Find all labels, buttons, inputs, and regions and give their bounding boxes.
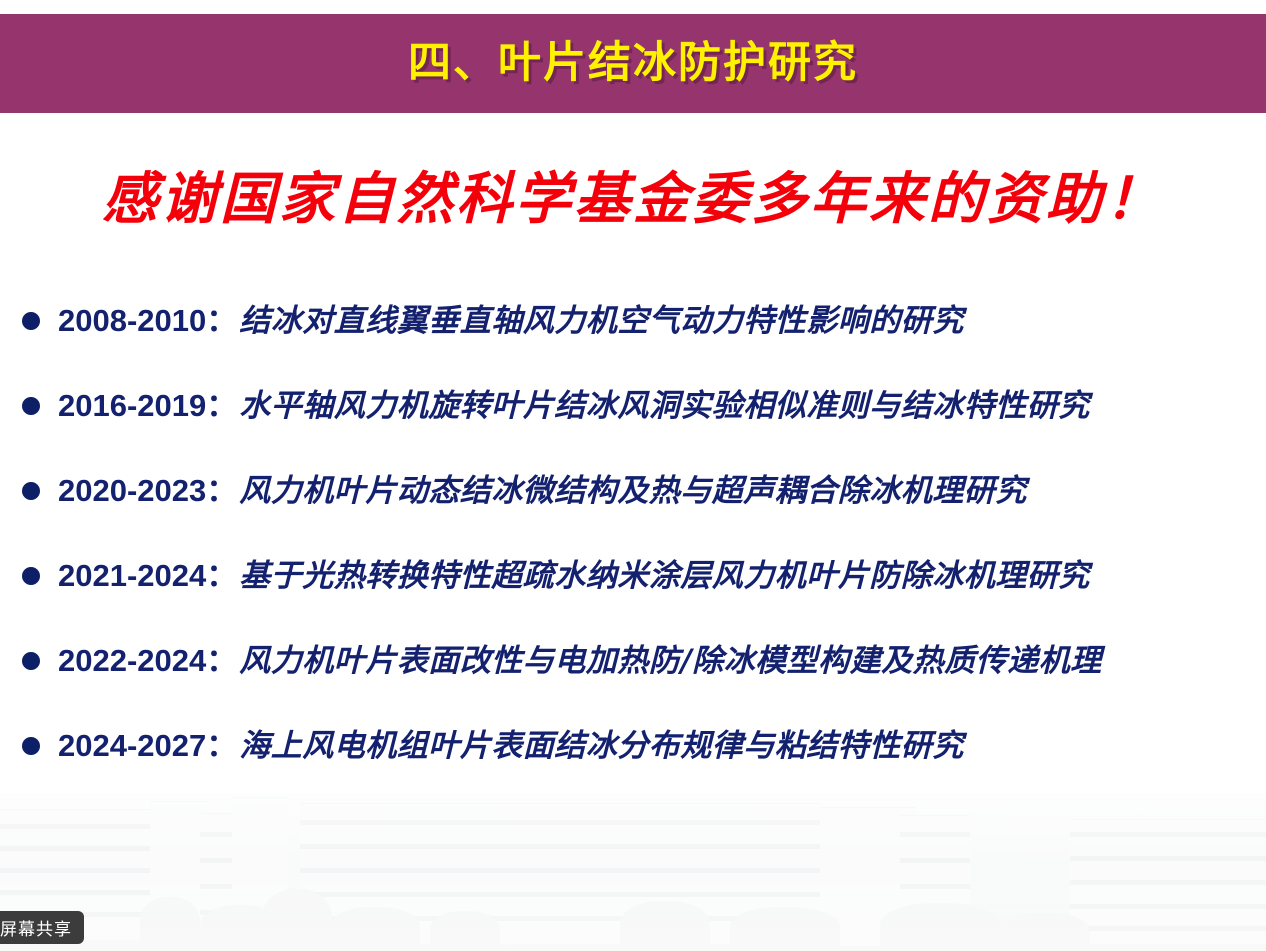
screen-share-indicator[interactable]: 电的屏幕共享 (0, 911, 84, 944)
bullet-circle-icon (22, 652, 40, 670)
campus-photo (0, 793, 1266, 951)
list-item: 2022-2024 ： 风力机叶片表面改性与电加热防/除冰模型构建及热质传递机理 (22, 641, 1266, 726)
list-item-separator: ： (206, 641, 239, 681)
photo-tree (330, 907, 420, 951)
list-item-body: 2016-2019 ： 水平轴风力机旋转叶片结冰风洞实验相似准则与结冰特性研究 (58, 386, 1090, 426)
list-item-year: 2021-2024 (58, 556, 206, 596)
list-item-separator: ： (206, 556, 239, 596)
list-item: 2008-2010 ： 结冰对直线翼垂直轴风力机空气动力特性影响的研究 (22, 301, 1266, 386)
list-item-separator: ： (206, 471, 239, 511)
list-item-text: 风力机叶片表面改性与电加热防/除冰模型构建及热质传递机理 (239, 641, 1101, 681)
photo-tree (430, 911, 500, 951)
bullet-circle-icon (22, 482, 40, 500)
list-item-body: 2022-2024 ： 风力机叶片表面改性与电加热防/除冰模型构建及热质传递机理 (58, 641, 1102, 681)
presentation-slide: 四、叶片结冰防护研究 感谢国家自然科学基金委多年来的资助！ 2008-2010 … (0, 0, 1266, 951)
bullet-circle-icon (22, 737, 40, 755)
list-item: 2021-2024 ： 基于光热转换特性超疏水纳米涂层风力机叶片防除冰机理研究 (22, 556, 1266, 641)
list-item-text: 风力机叶片动态结冰微结构及热与超声耦合除冰机理研究 (239, 471, 1027, 511)
list-item-year: 2016-2019 (58, 386, 206, 426)
bullet-circle-icon (22, 312, 40, 330)
list-item-body: 2008-2010 ： 结冰对直线翼垂直轴风力机空气动力特性影响的研究 (58, 301, 964, 341)
bullet-circle-icon (22, 397, 40, 415)
list-item-body: 2021-2024 ： 基于光热转换特性超疏水纳米涂层风力机叶片防除冰机理研究 (58, 556, 1090, 596)
list-item-text: 海上风电机组叶片表面结冰分布规律与粘结特性研究 (239, 726, 964, 766)
list-item-separator: ： (206, 726, 239, 766)
screen-share-label: 电的屏幕共享 (0, 915, 72, 940)
list-item-body: 2024-2027 ： 海上风电机组叶片表面结冰分布规律与粘结特性研究 (58, 726, 964, 766)
list-item-separator: ： (206, 301, 239, 341)
list-item-body: 2020-2023 ： 风力机叶片动态结冰微结构及热与超声耦合除冰机理研究 (58, 471, 1027, 511)
photo-tree (880, 903, 1000, 951)
list-item-text: 结冰对直线翼垂直轴风力机空气动力特性影响的研究 (239, 301, 964, 341)
photo-tree (262, 889, 332, 951)
photo-tree (730, 907, 840, 951)
list-item-year: 2020-2023 (58, 471, 206, 511)
list-item-year: 2022-2024 (58, 641, 206, 681)
photo-tree (620, 901, 710, 951)
slide-header-banner: 四、叶片结冰防护研究 (0, 14, 1266, 113)
photo-building (1070, 819, 1266, 944)
list-item-year: 2008-2010 (58, 301, 206, 341)
list-item: 2016-2019 ： 水平轴风力机旋转叶片结冰风洞实验相似准则与结冰特性研究 (22, 386, 1266, 471)
list-item-separator: ： (206, 386, 239, 426)
project-list: 2008-2010 ： 结冰对直线翼垂直轴风力机空气动力特性影响的研究 2016… (22, 301, 1266, 811)
slide-title: 四、叶片结冰防护研究 (408, 42, 858, 85)
list-item-text: 基于光热转换特性超疏水纳米涂层风力机叶片防除冰机理研究 (239, 556, 1090, 596)
photo-tree (140, 897, 200, 951)
list-item-year: 2024-2027 (58, 726, 206, 766)
top-white-strip (0, 0, 1266, 14)
photo-tree (1000, 913, 1090, 951)
bullet-circle-icon (22, 567, 40, 585)
list-item-text: 水平轴风力机旋转叶片结冰风洞实验相似准则与结冰特性研究 (239, 386, 1090, 426)
acknowledgement-headline-row: 感谢国家自然科学基金委多年来的资助！ (0, 171, 1266, 227)
acknowledgement-headline: 感谢国家自然科学基金委多年来的资助！ (102, 171, 1164, 227)
list-item: 2020-2023 ： 风力机叶片动态结冰微结构及热与超声耦合除冰机理研究 (22, 471, 1266, 556)
